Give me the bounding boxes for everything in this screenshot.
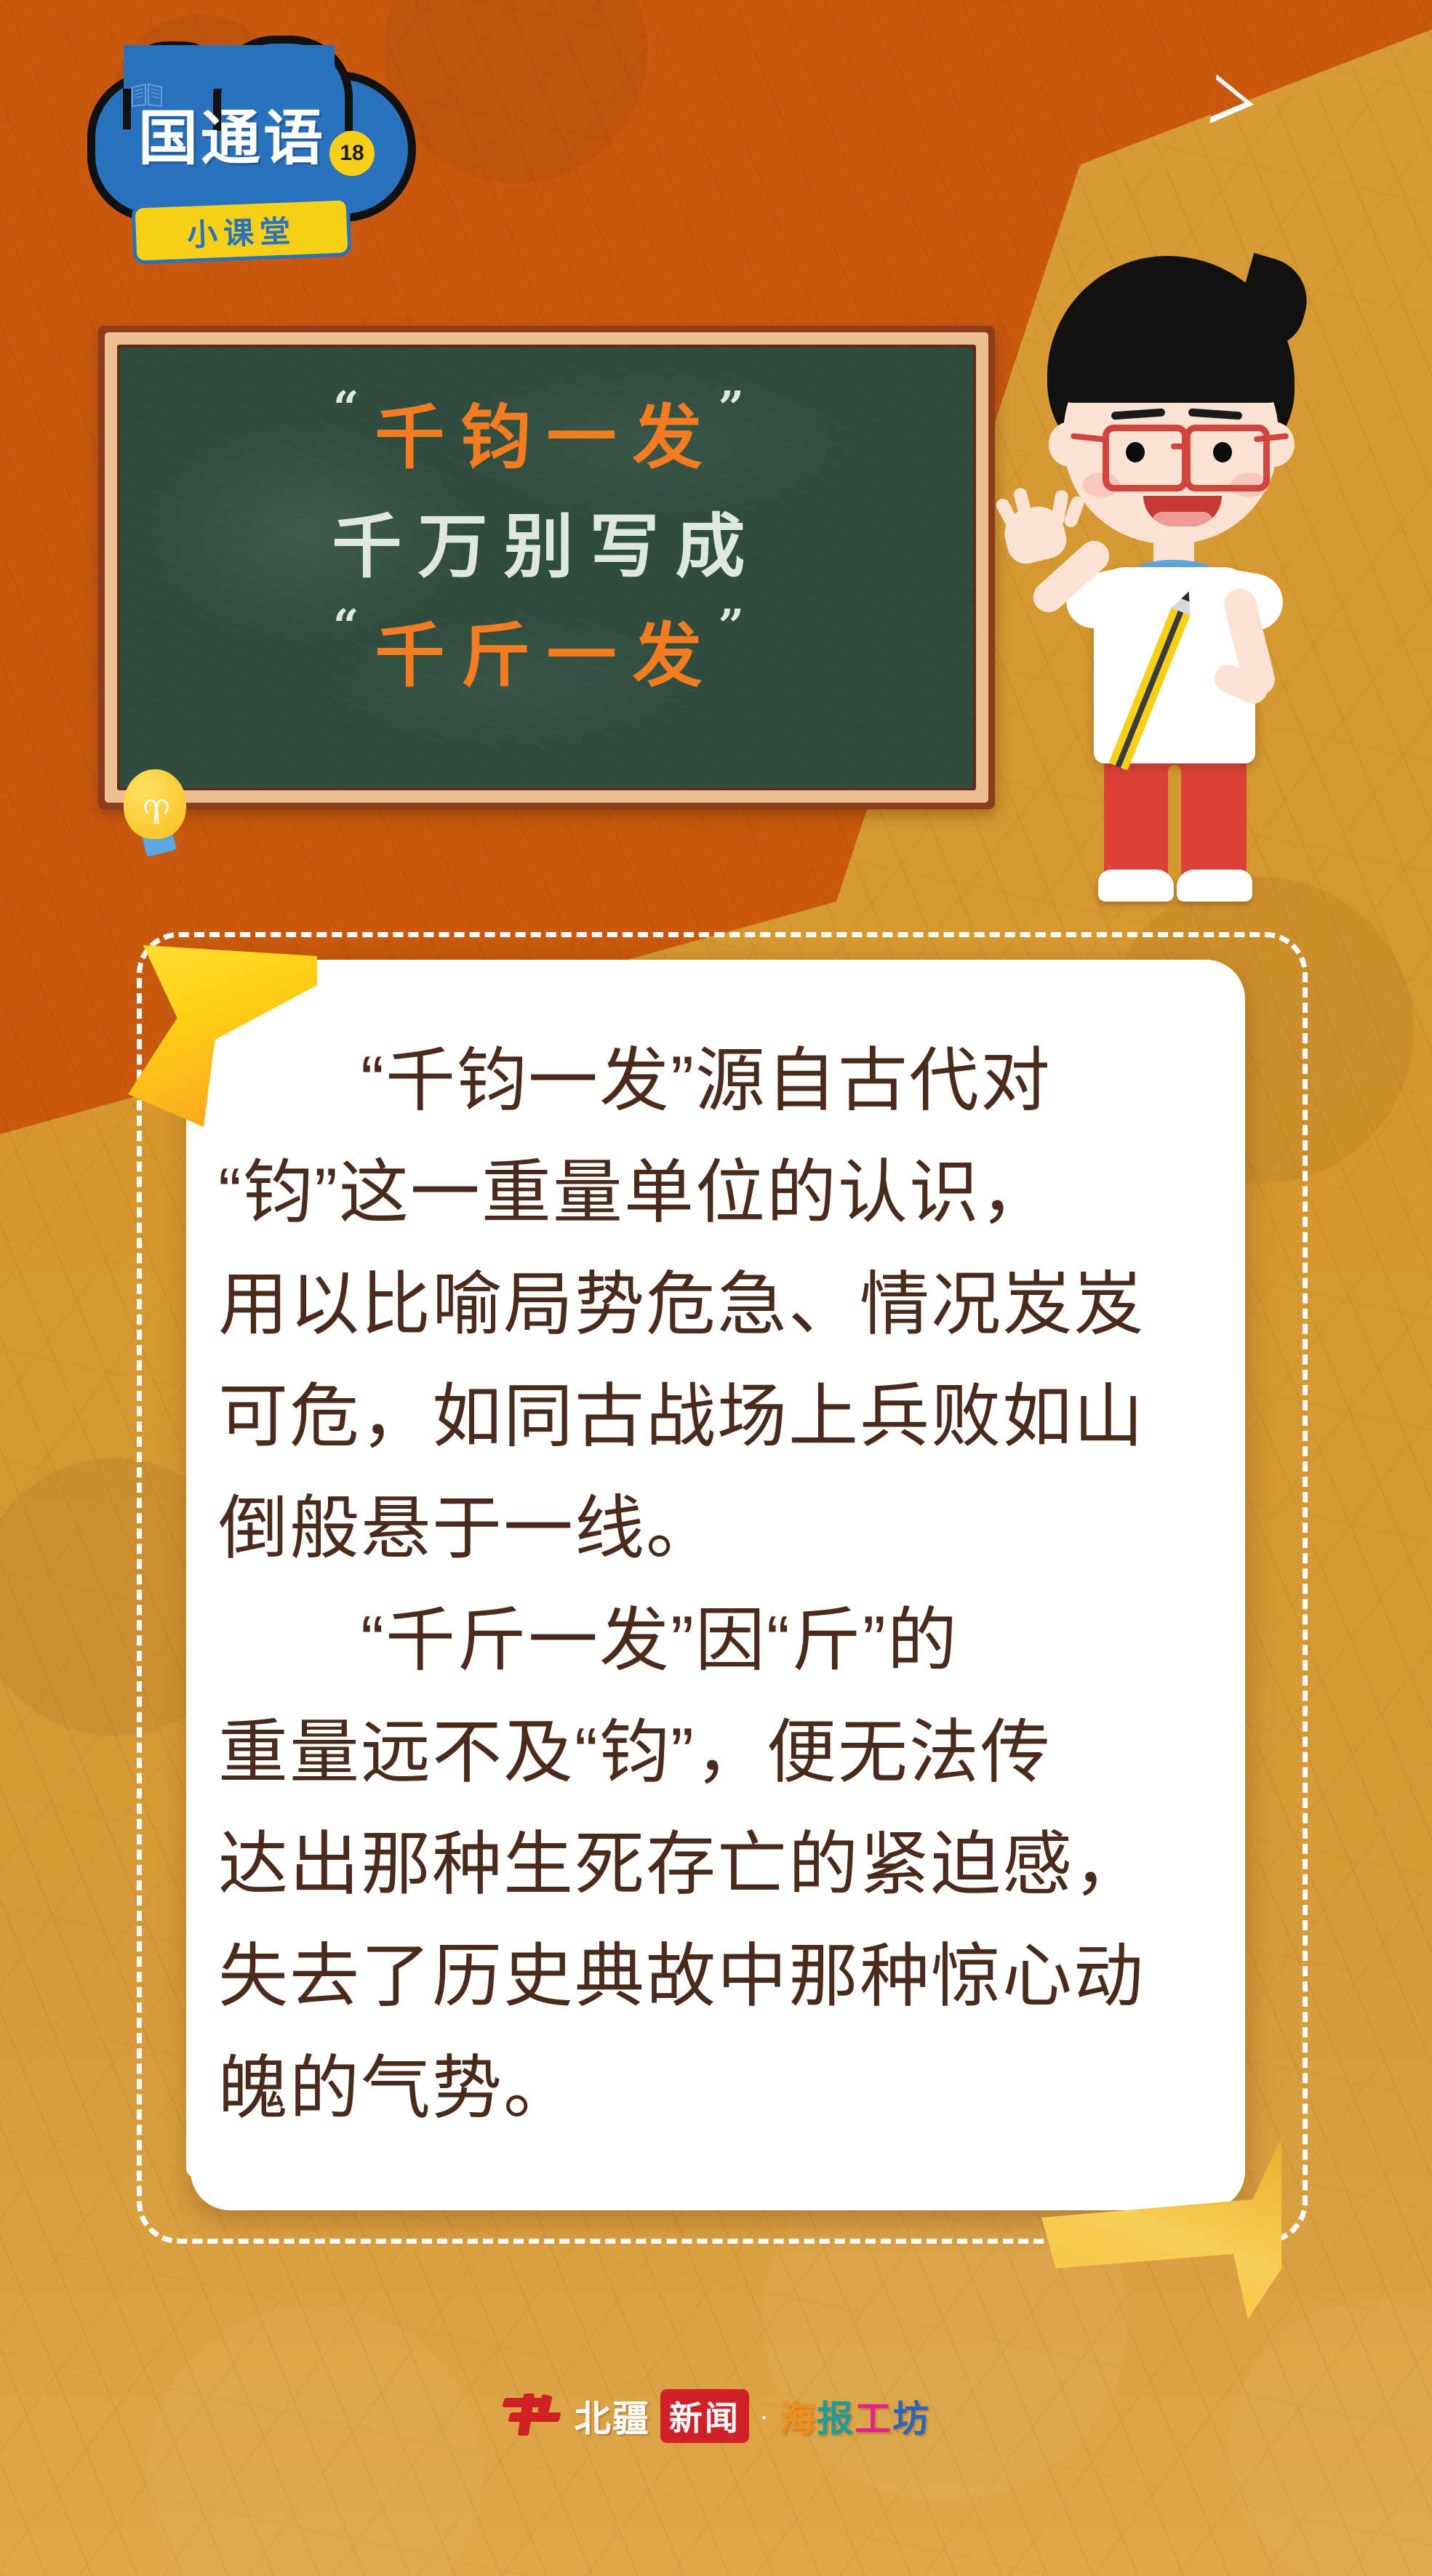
footer-studio-char-1: 海 <box>779 2397 817 2440</box>
boy-eye-left <box>1126 442 1145 462</box>
boy-mouth <box>1143 496 1222 526</box>
blackboard-line-1-text: 千钧一发 <box>375 396 719 478</box>
article-line: 失去了历史典故中那种惊心动 <box>218 1921 1222 2033</box>
poster-root: 国通语 18 小课堂 “千钧一发” 千万别写成 “千斤一发” <box>0 0 1432 2576</box>
footer-studio-char-2: 报 <box>817 2397 855 2440</box>
footer-studio-char-3: 工 <box>855 2397 892 2440</box>
blackboard-line-2: 千万别写成 <box>120 490 973 591</box>
boy-eye-right <box>1213 442 1232 462</box>
article-line: 达出那种生死存亡的紧迫感， <box>218 1809 1222 1921</box>
article-line: 魄的气势。 <box>218 2033 1222 2145</box>
article-line: 可危，如同古战场上兵败如山 <box>218 1361 1222 1473</box>
blackboard-line-3: “千斤一发” <box>120 599 973 700</box>
article-line: “千斤一发”因“斤”的 <box>218 1585 1222 1697</box>
boy-shoe-left <box>1098 870 1174 902</box>
footer-separator: · <box>759 2400 769 2433</box>
footer-news-badge: 新闻 <box>660 2389 749 2443</box>
play-triangle-inner <box>1211 79 1248 121</box>
open-quote-2: “ <box>333 599 375 652</box>
logo-main-text: 国通语 <box>138 109 326 169</box>
open-book-icon <box>131 83 163 108</box>
logo-subtitle-text: 小课堂 <box>186 206 297 255</box>
red-flag-logo-icon <box>502 2394 564 2439</box>
logo-episode-badge: 18 <box>329 131 375 176</box>
cartoon-boy <box>1018 256 1360 896</box>
blackboard: “千钧一发” 千万别写成 “千斤一发” <box>98 326 995 809</box>
blackboard-line-2-text: 千万别写成 <box>332 505 761 587</box>
article-body: “千钧一发”源自古代对 “钧”这一重量单位的认识， 用以比喻局势危急、情况岌岌 … <box>218 1025 1222 2145</box>
open-quote-1: “ <box>333 381 375 434</box>
logo-cloud-mask <box>124 45 335 89</box>
blackboard-surface: “千钧一发” 千万别写成 “千斤一发” <box>117 345 976 790</box>
glasses-bridge <box>1171 444 1190 449</box>
footer-studio-text: 海报工坊 <box>779 2390 930 2442</box>
glasses-lens-left <box>1103 425 1188 491</box>
flag-stroke-2 <box>508 2412 561 2422</box>
brand-logo: 国通语 18 小课堂 <box>87 71 436 253</box>
blackboard-line-1: “千钧一发” <box>120 381 973 482</box>
logo-subtitle-ribbon: 小课堂 <box>132 196 352 264</box>
footer-studio-char-4: 坊 <box>892 2397 930 2440</box>
article-line: “钧”这一重量单位的认识， <box>218 1137 1222 1249</box>
lightbulb-filament <box>140 794 172 826</box>
boy-shoe-right <box>1177 870 1252 902</box>
blackboard-line-3-text: 千斤一发 <box>375 614 719 697</box>
boy-fringe <box>1056 317 1286 403</box>
close-quote-2: ” <box>719 599 761 652</box>
footer-branding: 北疆 新闻 · 海报工坊 <box>0 2376 1432 2456</box>
close-quote-1: ” <box>719 381 761 434</box>
article-line: 用以比喻局势危急、情况岌岌 <box>218 1249 1222 1361</box>
article-line: 倒般悬于一线。 <box>218 1473 1222 1585</box>
article-line: “千钧一发”源自古代对 <box>218 1025 1222 1137</box>
article-line: 重量远不及“钧”，便无法传 <box>218 1697 1222 1809</box>
boy-pants-gap <box>1168 765 1181 883</box>
footer-brand-text: 北疆 <box>575 2390 650 2442</box>
